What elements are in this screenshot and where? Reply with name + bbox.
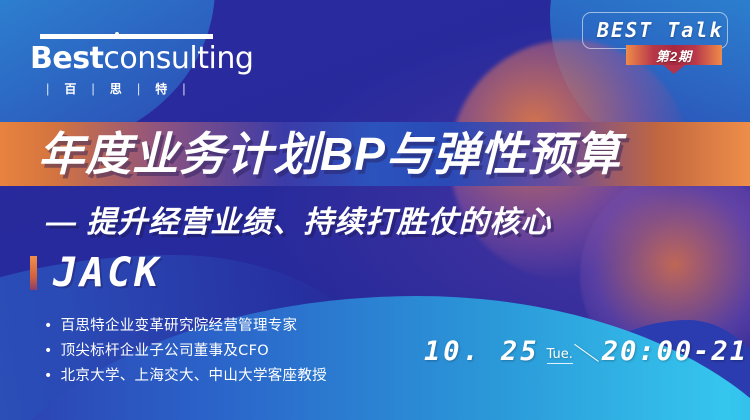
speaker-block: JACK [30, 252, 161, 294]
ribbon-tail-shape [663, 65, 685, 74]
logo-sep-0: | [46, 81, 50, 96]
datetime-separator-icon: ＼ [573, 345, 600, 365]
event-weekday: Tue. [547, 347, 573, 364]
speaker-credentials-list: • 百思特企业变革研究院经营管理专家 • 顶尖标杆企业子公司董事及CFO • 北… [44, 314, 327, 389]
page-subtitle: — 提升经营业绩、持续打胜仗的核心 [46, 200, 746, 246]
event-date: 10. 25 [424, 338, 540, 366]
decorative-wave-bottom-back [490, 320, 750, 420]
logo-sep-1: | [91, 81, 95, 96]
logo-wordmark: Bestconsulting [30, 43, 215, 75]
episode-ribbon: 第2期 [626, 45, 722, 71]
event-time: 20:00-21:00 [602, 338, 750, 366]
badge-label: BEST Talk [597, 18, 715, 42]
webinar-poster: Bestconsulting | 百 | 思 | 特 | BEST Talk 第… [0, 0, 750, 420]
badge-outline-box: BEST Talk [582, 12, 728, 49]
logo-dot-icon [115, 32, 119, 36]
ribbon-label: 第2期 [656, 46, 692, 65]
list-item: • 北京大学、上海交大、中山大学客座教授 [44, 364, 327, 389]
page-title: 年度业务计划BP与弹性预算 [38, 118, 738, 190]
bullet-dot-icon: • [44, 314, 53, 339]
list-item: • 百思特企业变革研究院经营管理专家 [44, 314, 327, 339]
logo-word-best: Best [30, 41, 103, 76]
speaker-name: JACK [53, 252, 161, 294]
logo-top-rule [40, 34, 213, 39]
logo-sep-3: | [182, 81, 186, 96]
best-talk-badge: BEST Talk 第2期 [582, 12, 728, 71]
logo-word-consulting: consulting [103, 41, 253, 76]
list-item-label: 顶尖标杆企业子公司董事及CFO [61, 339, 269, 364]
brand-logo: Bestconsulting | 百 | 思 | 特 | [30, 34, 215, 97]
logo-cn-char-1: 思 [110, 80, 123, 97]
logo-chinese-name: | 百 | 思 | 特 | [30, 80, 215, 97]
list-item: • 顶尖标杆企业子公司董事及CFO [44, 339, 327, 364]
list-item-label: 北京大学、上海交大、中山大学客座教授 [61, 364, 327, 389]
list-item-label: 百思特企业变革研究院经营管理专家 [61, 314, 298, 339]
event-datetime: 10. 25 Tue. ＼ 20:00-21:00 [424, 338, 750, 366]
bullet-dot-icon: • [44, 364, 53, 389]
logo-cn-char-0: 百 [64, 80, 77, 97]
bullet-dot-icon: • [44, 339, 53, 364]
logo-cn-char-2: 特 [155, 80, 168, 97]
logo-sep-2: | [137, 81, 141, 96]
ribbon-body: 第2期 [626, 45, 722, 65]
speaker-accent-bar [30, 256, 37, 290]
